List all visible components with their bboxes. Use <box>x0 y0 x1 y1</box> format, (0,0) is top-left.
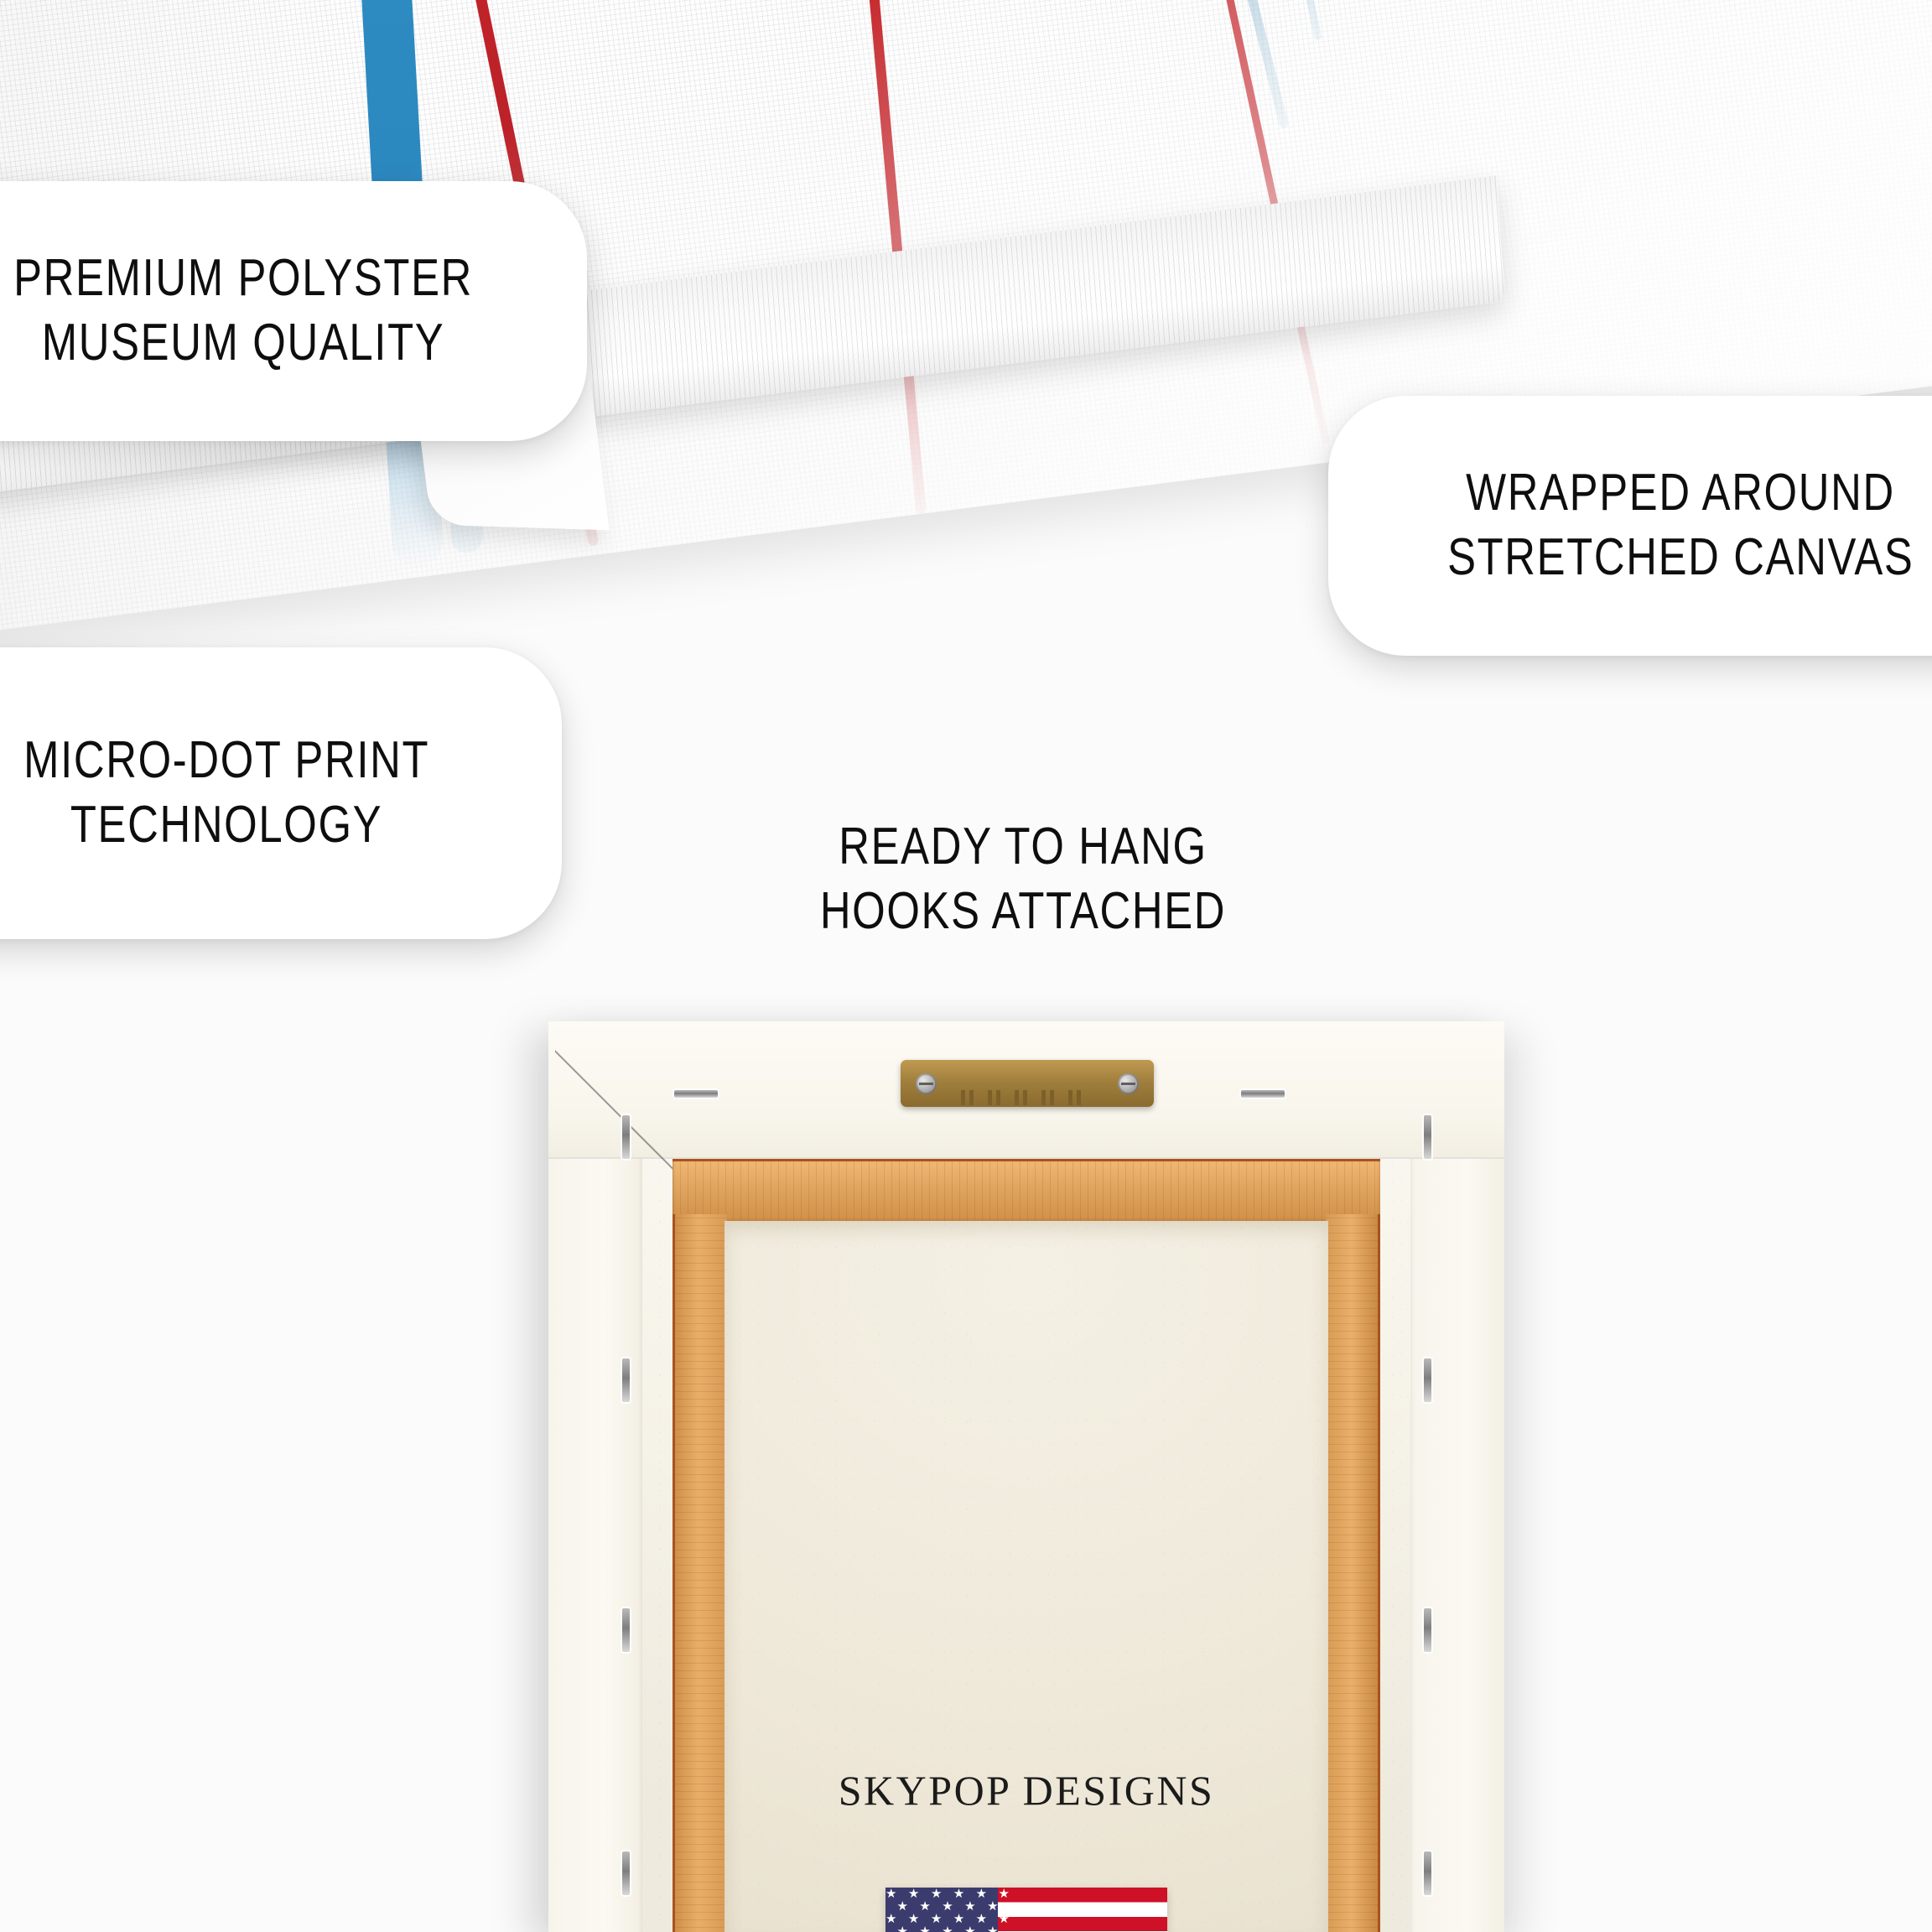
feature-label-line2: STRETCHED CANVAS <box>1447 526 1914 590</box>
feature-label-line1: WRAPPED AROUND <box>1466 461 1895 526</box>
sawtooth-hanger-icon <box>901 1060 1154 1107</box>
flag-star: ★ <box>931 1888 942 1900</box>
flag-star: ★ <box>885 1888 896 1900</box>
stretcher-bar-left <box>673 1214 727 1932</box>
hanger-teeth <box>961 1090 1093 1105</box>
feature-caption-ready-to-hang: READY TO HANG HOOKS ATTACHED <box>746 815 1300 944</box>
flag-star: ★ <box>896 1925 907 1932</box>
feature-label-line1: READY TO HANG <box>796 815 1249 880</box>
flag-star: ★ <box>908 1913 919 1925</box>
staple-icon <box>674 1090 718 1098</box>
flag-star: ★ <box>919 1925 930 1932</box>
flag-star: ★ <box>976 1913 987 1925</box>
feature-label-line1: MICRO-DOT PRINT <box>23 729 429 793</box>
feature-label-line2: MUSEUM QUALITY <box>42 311 445 376</box>
flag-star: ★ <box>953 1888 964 1900</box>
feature-label-line2: HOOKS ATTACHED <box>796 880 1249 944</box>
flag-star: ★ <box>908 1888 919 1900</box>
flag-star: ★ <box>976 1888 987 1900</box>
canvas-back-photo: SKYPOP DESIGNS ★★★★★★★★★★★★★★★★★★★★★★★★★… <box>548 1021 1504 1932</box>
feature-label-line2: TECHNOLOGY <box>70 793 382 858</box>
us-flag-icon: ★★★★★★★★★★★★★★★★★★★★★★★★★★★★★★★★★★★★★★★★… <box>885 1888 1167 1932</box>
flag-star: ★ <box>964 1925 975 1932</box>
staple-icon <box>1424 1608 1431 1652</box>
staple-icon <box>1424 1358 1431 1402</box>
flag-star: ★ <box>987 1900 998 1913</box>
infographic-stage: PREMIUM POLYSTER MUSEUM QUALITY WRAPPED … <box>0 0 1932 1932</box>
flag-star: ★ <box>942 1925 953 1932</box>
flag-star: ★ <box>885 1913 896 1925</box>
flag-star: ★ <box>987 1925 998 1932</box>
staple-icon <box>1424 1851 1431 1895</box>
inner-panel-texture <box>724 1221 1328 1932</box>
staple-icon <box>1424 1115 1431 1159</box>
flag-stars: ★★★★★★★★★★★★★★★★★★★★★★★★★★★★★★★★★★★★★★★★… <box>885 1888 998 1932</box>
flag-star: ★ <box>999 1913 1010 1925</box>
feature-badge-wrapped-around[interactable]: WRAPPED AROUND STRETCHED CANVAS <box>1328 396 1932 656</box>
screw-icon <box>916 1073 937 1094</box>
staple-icon <box>622 1608 630 1652</box>
staple-icon <box>622 1115 630 1159</box>
flag-star: ★ <box>931 1913 942 1925</box>
staple-icon <box>1241 1090 1285 1098</box>
flag-star: ★ <box>919 1900 930 1913</box>
flag-star: ★ <box>953 1913 964 1925</box>
staple-icon <box>622 1851 630 1895</box>
flag-star: ★ <box>942 1900 953 1913</box>
brand-label: SKYPOP DESIGNS <box>724 1766 1328 1815</box>
canvas-back-inner-panel: SKYPOP DESIGNS ★★★★★★★★★★★★★★★★★★★★★★★★★… <box>724 1221 1328 1932</box>
flag-star: ★ <box>999 1888 1010 1900</box>
screw-icon <box>1118 1073 1139 1094</box>
flag-star: ★ <box>896 1900 907 1913</box>
stretcher-bar-top <box>673 1159 1380 1223</box>
flag-star: ★ <box>964 1900 975 1913</box>
flag-canton: ★★★★★★★★★★★★★★★★★★★★★★★★★★★★★★★★★★★★★★★★… <box>885 1888 998 1932</box>
staple-icon <box>622 1358 630 1402</box>
feature-badge-micro-dot-print[interactable]: MICRO-DOT PRINT TECHNOLOGY <box>0 647 562 939</box>
feature-badge-premium-polyster[interactable]: PREMIUM POLYSTER MUSEUM QUALITY <box>0 181 587 441</box>
stretcher-bar-right <box>1326 1214 1380 1932</box>
feature-label-line1: PREMIUM POLYSTER <box>13 247 473 311</box>
